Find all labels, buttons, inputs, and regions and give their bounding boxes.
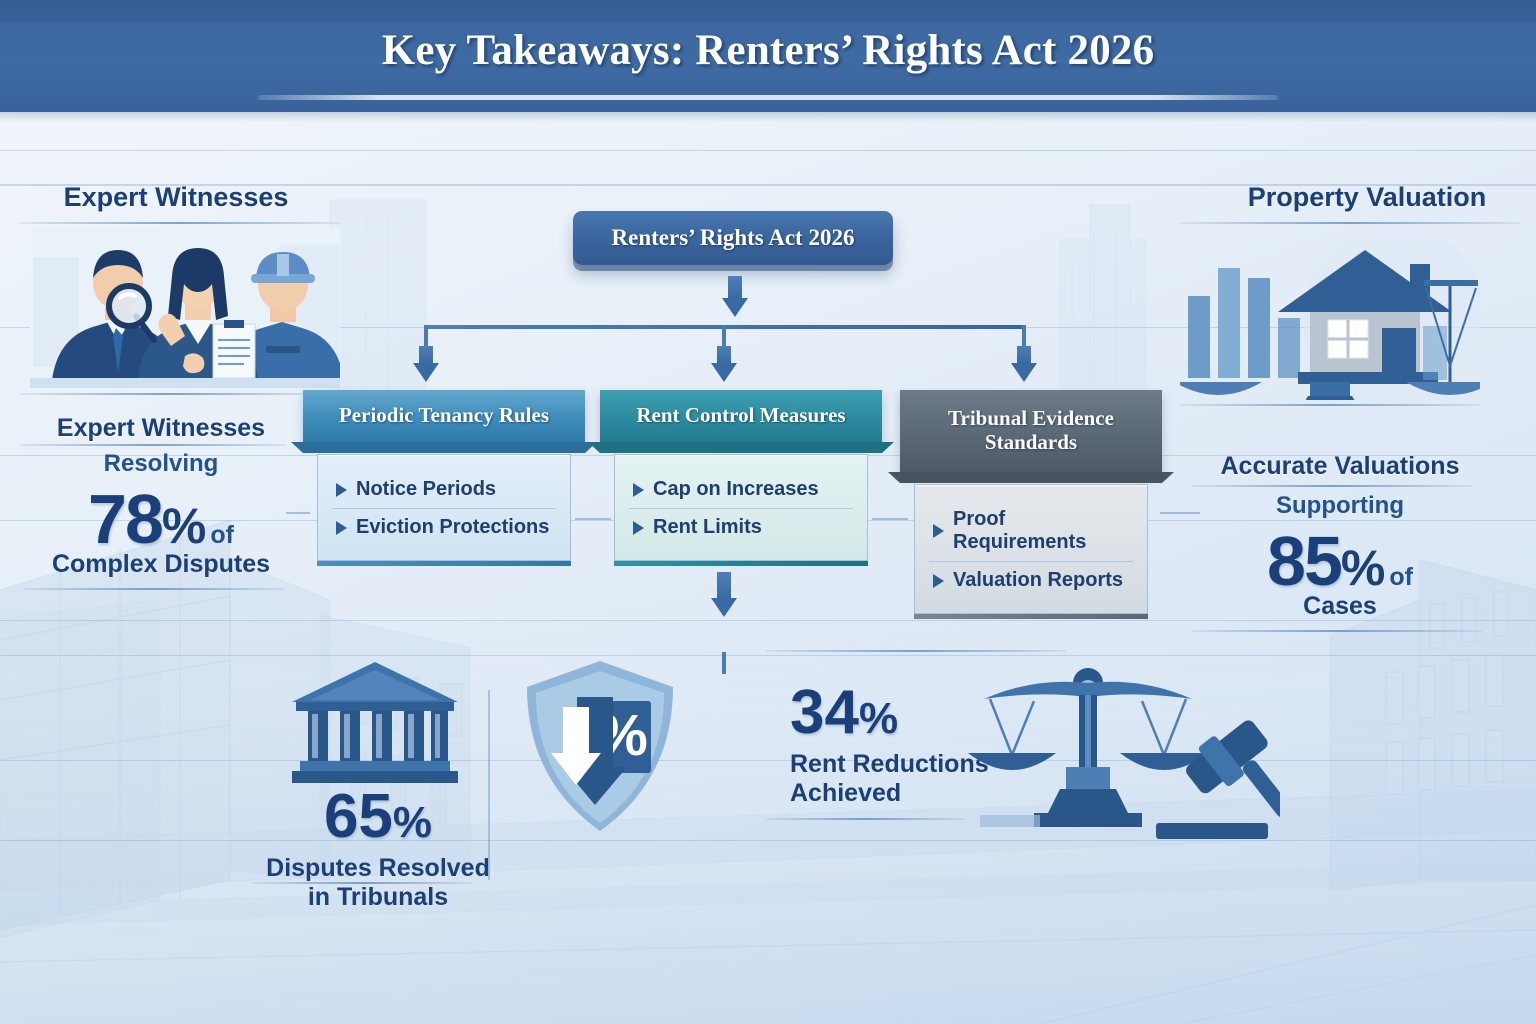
right-stat-rule (1192, 485, 1472, 487)
right-stat-bottom-rule (1192, 630, 1482, 632)
left-stat-rule (20, 444, 286, 446)
right-panel-title-rule (1180, 222, 1520, 224)
branch-arrow-middle-icon (711, 346, 737, 382)
branch-arrow-left-icon (413, 346, 439, 382)
bottom-divider (488, 690, 490, 880)
triangle-bullet-icon (933, 574, 944, 588)
flow-root-label: Renters’ Rights Act 2026 (612, 225, 855, 251)
bar-chart-icon (1188, 268, 1300, 378)
flow-root-node[interactable]: Renters’ Rights Act 2026 (573, 211, 893, 265)
card-3-bullet-1-label: Proof Requirements (953, 508, 1129, 554)
card-3-footer-bar (914, 614, 1148, 619)
card-2-bullet-1-label: Cap on Increases (653, 478, 819, 501)
triangle-bullet-icon (336, 483, 347, 497)
card-2-output-arrow-icon (711, 572, 737, 617)
card-2-title: Rent Control Measures (600, 390, 882, 442)
bottom-stat-1-value: 65% (258, 786, 498, 848)
flow-card-rent-control-measures[interactable]: Rent Control Measures Cap on Increases R… (600, 390, 882, 566)
right-stat-verb: Supporting (1200, 492, 1480, 520)
scales-of-justice-and-gavel-icon (960, 655, 1280, 855)
right-stat-name: Accurate Valuations (1200, 452, 1480, 481)
card-link-2-3 (872, 518, 908, 520)
triangle-bullet-icon (336, 521, 347, 535)
card-2-bullet-2-label: Rent Limits (653, 516, 762, 539)
bottom-stat-2-bottom-rule (766, 818, 966, 820)
bottom-stat-1: 65% Disputes Resolved in Tribunals (258, 786, 498, 912)
expert-witnesses-illustration (30, 228, 340, 388)
right-panel: Property Valuation (1222, 182, 1512, 213)
scales-of-justice-icon (968, 668, 1208, 827)
left-illustration-rule (20, 393, 320, 395)
card-1-bullet-2[interactable]: Eviction Protections (332, 508, 556, 546)
left-stat-value: 78%of (36, 484, 286, 554)
card-1-body: Notice Periods Eviction Protections (317, 454, 571, 561)
right-panel-title: Property Valuation (1222, 182, 1512, 213)
branch-arrow-right-icon (1011, 346, 1037, 382)
left-stat-name: Expert Witnesses (36, 414, 286, 443)
left-stat-tail: Complex Disputes (26, 550, 296, 579)
bottom-stat-1-number: 65 (324, 782, 393, 851)
guide-line (0, 655, 1536, 656)
right-illustration-rule (1180, 404, 1480, 406)
card-1-title: Periodic Tenancy Rules (303, 390, 585, 442)
card-3-title: Tribunal Evidence Standards (900, 390, 1162, 472)
bottom-stat-1-rule (252, 882, 472, 884)
root-arrow-icon (722, 276, 748, 317)
card-1-bullet-1[interactable]: Notice Periods (332, 471, 556, 508)
guide-line (0, 840, 1536, 841)
bottom-stat-2-number: 34 (790, 678, 859, 747)
card-link-1-2 (575, 518, 611, 520)
card-3-body: Proof Requirements Valuation Reports (914, 484, 1148, 614)
flow-card-periodic-tenancy-rules[interactable]: Periodic Tenancy Rules Notice Periods Ev… (303, 390, 585, 566)
bottom-stat-2-percent: % (859, 694, 898, 743)
triangle-bullet-icon (633, 483, 644, 497)
card-link-right-panel (1160, 512, 1200, 514)
card-3-bullet-1[interactable]: Proof Requirements (929, 501, 1133, 561)
infographic-canvas: Key Takeaways: Renters’ Rights Act 2026 … (0, 0, 1536, 1024)
left-stat-of: of (210, 521, 234, 549)
left-stat-verb: Resolving (36, 450, 286, 478)
triangle-bullet-icon (933, 524, 944, 538)
card-link-left-panel (286, 512, 310, 514)
page-title: Key Takeaways: Renters’ Rights Act 2026 (0, 26, 1536, 75)
right-stat-number: 85 (1267, 522, 1341, 600)
header-shadow (0, 112, 1536, 122)
left-panel-title-rule (20, 222, 340, 224)
card-3-bullet-2-label: Valuation Reports (953, 569, 1123, 592)
card-3-bullet-2[interactable]: Valuation Reports (929, 561, 1133, 599)
left-stat-number: 78 (88, 480, 162, 558)
flow-card-tribunal-evidence-standards[interactable]: Tribunal Evidence Standards Proof Requir… (900, 390, 1162, 619)
courthouse-icon (290, 658, 460, 788)
shield-percent-icon: % (515, 655, 685, 840)
triangle-bullet-icon (633, 521, 644, 535)
card-2-bullet-1[interactable]: Cap on Increases (629, 471, 853, 508)
right-stat-tail: Cases (1200, 592, 1480, 621)
card-2-bullet-2[interactable]: Rent Limits (629, 508, 853, 546)
header-underline (258, 95, 1278, 100)
left-panel: Expert Witnesses (40, 182, 312, 213)
header-banner: Key Takeaways: Renters’ Rights Act 2026 (0, 0, 1536, 112)
card-1-footer-bar (317, 561, 571, 566)
left-stat-percent: % (162, 498, 206, 554)
bottom-stat-1-label-line1: Disputes Resolved (258, 854, 498, 883)
card-1-bullet-1-label: Notice Periods (356, 478, 496, 501)
left-stat-bottom-rule (24, 588, 284, 590)
left-panel-title: Expert Witnesses (40, 182, 312, 213)
bottom-stat-2-top-rule (766, 650, 1066, 652)
card-2-body: Cap on Increases Rent Limits (614, 454, 868, 561)
flow-bottom-stub (722, 652, 726, 674)
guide-line (0, 760, 1536, 761)
card-1-bullet-2-label: Eviction Protections (356, 516, 549, 539)
bottom-stat-1-percent: % (393, 798, 432, 847)
clipboard-icon (213, 320, 255, 378)
right-stat-value: 85%of (1200, 526, 1480, 596)
property-valuation-illustration (1180, 240, 1480, 400)
right-stat-of: of (1389, 563, 1413, 591)
bottom-stat-1-label-line2: in Tribunals (258, 883, 498, 912)
right-stat-percent: % (1341, 540, 1385, 596)
card-2-footer-bar (614, 561, 868, 566)
guide-line (0, 150, 1536, 151)
